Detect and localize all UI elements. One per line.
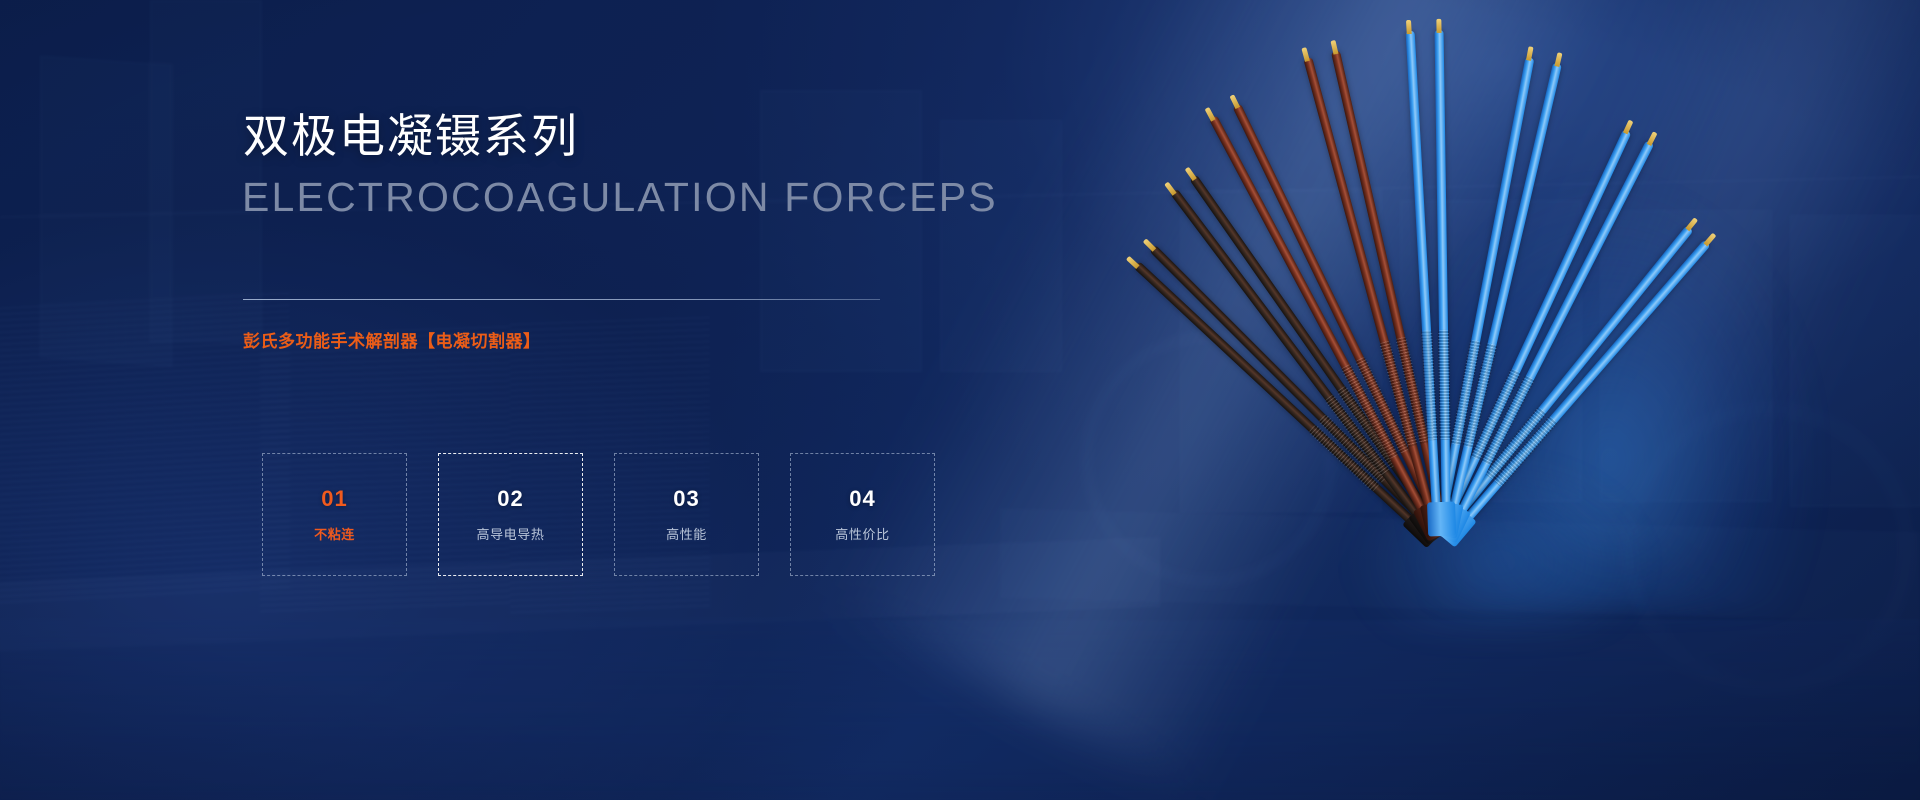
forceps-hinge xyxy=(1427,502,1456,537)
feature-label: 高性能 xyxy=(666,528,707,541)
forceps-gold-tip xyxy=(1205,107,1216,122)
divider xyxy=(243,299,880,300)
feature-box-01[interactable]: 01不粘连 xyxy=(262,453,407,576)
forceps-grip xyxy=(1438,330,1451,440)
forceps-gold-tip xyxy=(1143,238,1156,251)
feature-box-02[interactable]: 02高导电导热 xyxy=(438,453,583,576)
forceps-gold-tip xyxy=(1229,94,1240,109)
forceps-gold-tip xyxy=(1436,19,1441,33)
feature-list: 01不粘连02高导电导热03高性能04高性价比 xyxy=(262,453,935,576)
feature-number: 04 xyxy=(849,488,875,510)
forceps-gold-tip xyxy=(1126,256,1140,269)
forceps-arm xyxy=(1209,115,1438,534)
feature-label: 不粘连 xyxy=(314,528,355,541)
page-subtitle-en: ELECTROCOAGULATION FORCEPS xyxy=(242,177,998,218)
product-image-forceps xyxy=(1100,60,1780,620)
forceps-gold-tip xyxy=(1623,120,1633,135)
forceps-gold-tip xyxy=(1185,167,1197,181)
feature-box-04[interactable]: 04高性价比 xyxy=(790,453,935,576)
banner-content: 双极电凝镊系列 ELECTROCOAGULATION FORCEPS 彭氏多功能… xyxy=(243,0,1003,800)
page-title: 双极电凝镊系列 xyxy=(243,113,579,159)
forceps-gold-tip xyxy=(1703,233,1716,247)
forceps-gold-tip xyxy=(1647,131,1658,146)
forceps-gold-tip xyxy=(1164,182,1176,196)
feature-box-03[interactable]: 03高性能 xyxy=(614,453,759,576)
product-hero-banner: 双极电凝镊系列 ELECTROCOAGULATION FORCEPS 彭氏多功能… xyxy=(0,0,1920,800)
feature-number: 03 xyxy=(673,488,699,510)
forceps-gold-tip xyxy=(1685,217,1698,231)
forceps-gold-tip xyxy=(1406,20,1412,34)
product-tagline: 彭氏多功能手术解剖器【电凝切割器】 xyxy=(243,331,541,353)
feature-label: 高导电导热 xyxy=(476,528,544,541)
feature-number: 02 xyxy=(497,488,523,510)
feature-label: 高性价比 xyxy=(835,528,889,541)
feature-number: 01 xyxy=(321,488,347,510)
